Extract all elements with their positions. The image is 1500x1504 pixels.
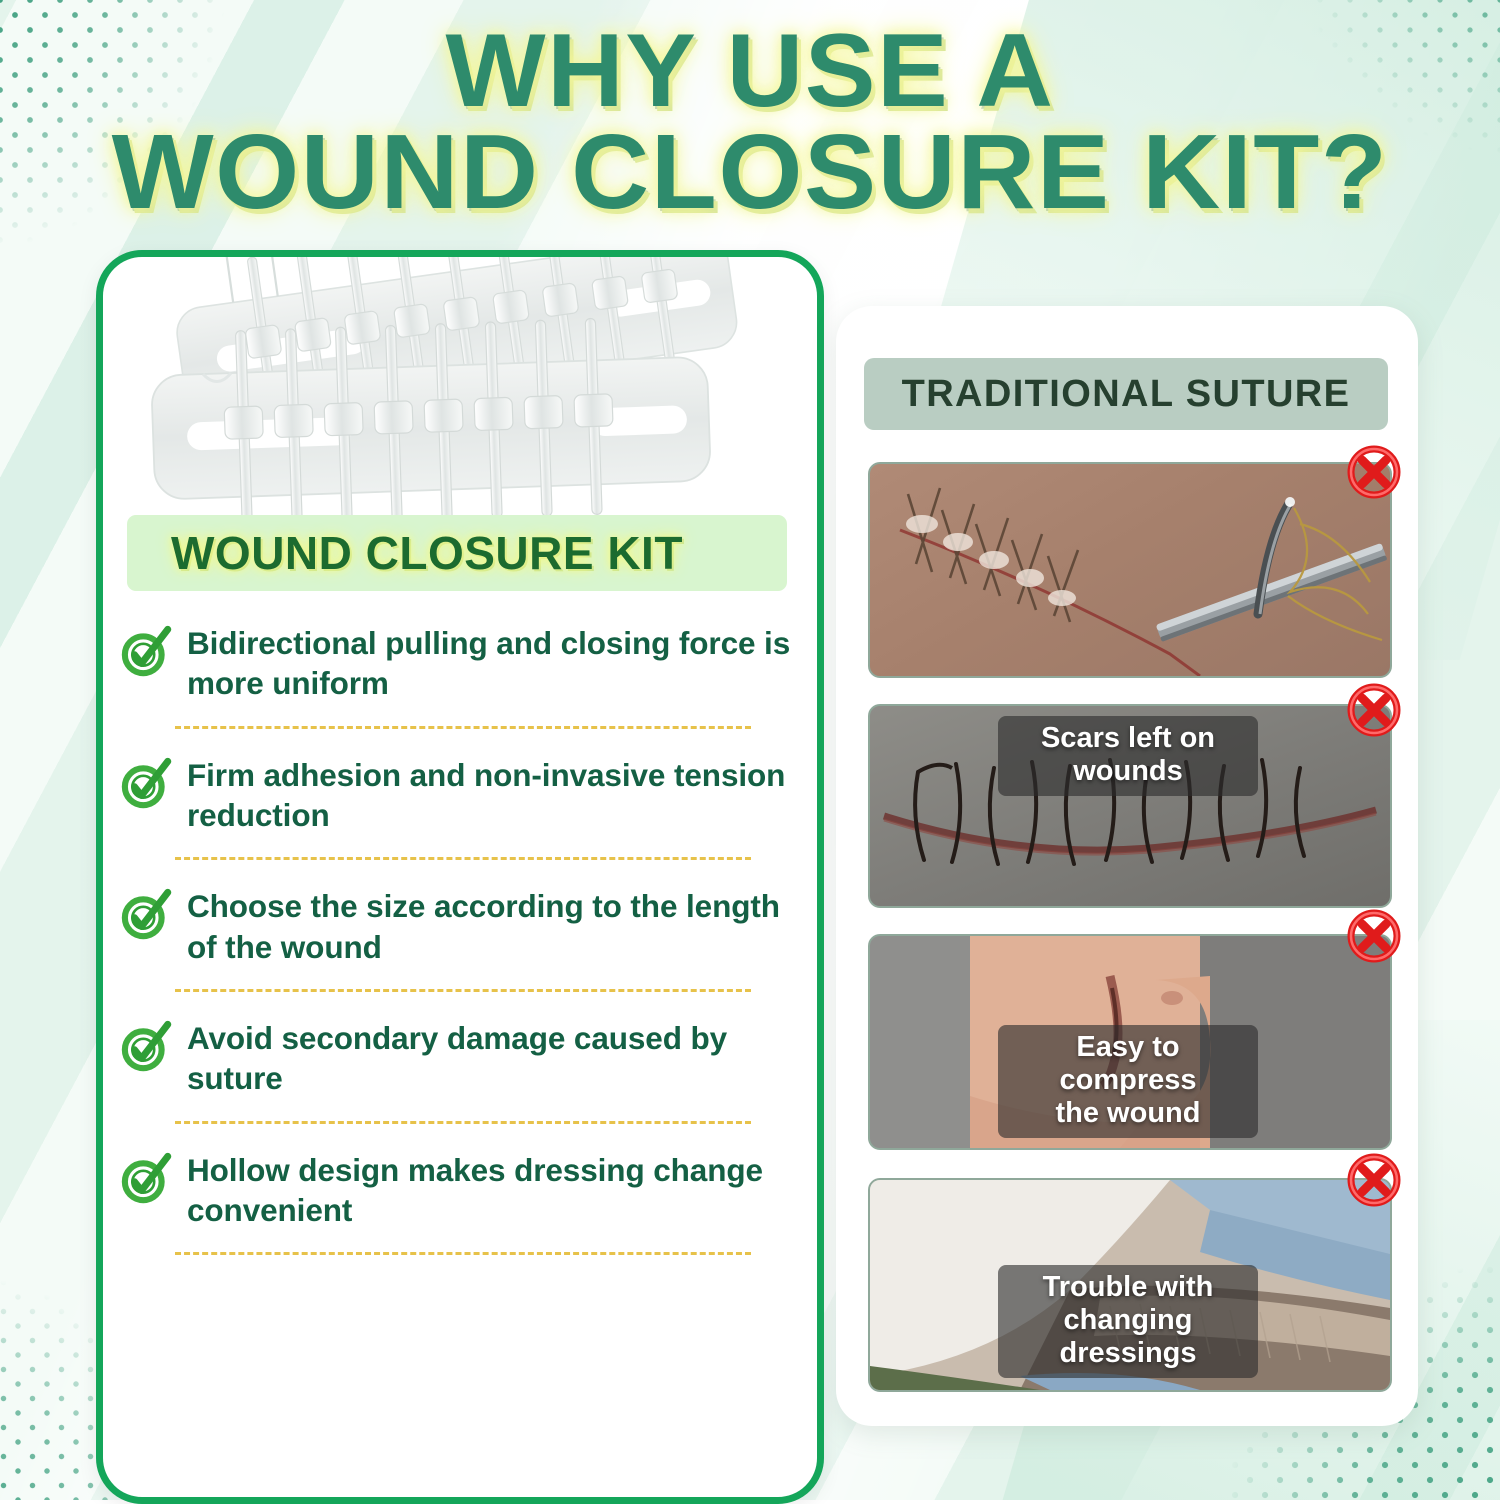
benefit-item: Choose the size according to the length …: [117, 882, 795, 967]
check-circle-icon: [117, 888, 173, 944]
benefit-item: Bidirectional pulling and closing force …: [117, 619, 795, 704]
check-circle-icon: [117, 1020, 173, 1076]
page-title: WHY USE A WOUND CLOSURE KIT?: [0, 22, 1500, 224]
drawback-caption: Easy to compress the wound: [998, 1025, 1258, 1138]
dashed-separator: [175, 989, 751, 992]
drawback-caption: Scars left on wounds: [998, 716, 1258, 796]
check-circle-icon: [117, 757, 173, 813]
dashed-separator: [175, 857, 751, 860]
traditional-suture-badge: TRADITIONAL SUTURE: [864, 358, 1388, 430]
wound-closure-kit-badge: WOUND CLOSURE KIT: [127, 515, 787, 591]
x-circle-icon: [1342, 904, 1406, 968]
benefit-label: Choose the size according to the length …: [187, 884, 795, 967]
wound-closure-kit-card: WOUND CLOSURE KIT Bidirectional pulling …: [96, 250, 824, 1504]
check-circle-icon: [117, 625, 173, 681]
x-circle-icon: [1342, 1148, 1406, 1212]
drawback-item: Trouble with changing dressings: [868, 1178, 1388, 1388]
dashed-separator: [175, 1252, 751, 1255]
drawback-item: [868, 462, 1388, 674]
x-circle-icon: [1342, 440, 1406, 504]
suture-badge-label: TRADITIONAL SUTURE: [902, 373, 1351, 416]
drawback-caption: Trouble with changing dressings: [998, 1265, 1258, 1378]
x-circle-icon: [1342, 678, 1406, 742]
title-line-1: WHY USE A: [0, 22, 1500, 122]
suture-photo-needle-holder: [868, 462, 1392, 678]
drawback-item: Easy to compress the wound: [868, 934, 1388, 1146]
traditional-suture-card: TRADITIONAL SUTURE: [836, 306, 1418, 1426]
dashed-separator: [175, 1121, 751, 1124]
check-circle-icon: [117, 1152, 173, 1208]
kit-badge-label: WOUND CLOSURE KIT: [127, 526, 683, 580]
benefit-label: Avoid secondary damage caused by suture: [187, 1016, 795, 1099]
benefit-label: Hollow design makes dressing change conv…: [187, 1148, 795, 1231]
benefit-item: Avoid secondary damage caused by suture: [117, 1014, 795, 1099]
drawback-item: Scars left on wounds: [868, 704, 1388, 904]
product-image-wound-closure-kit: [143, 250, 783, 537]
dashed-separator: [175, 726, 751, 729]
title-line-2: WOUND CLOSURE KIT?: [0, 122, 1500, 224]
benefits-list: Bidirectional pulling and closing force …: [103, 619, 817, 1277]
benefit-label: Firm adhesion and non-invasive tension r…: [187, 753, 795, 836]
benefit-item: Hollow design makes dressing change conv…: [117, 1146, 795, 1231]
benefit-item: Firm adhesion and non-invasive tension r…: [117, 751, 795, 836]
benefit-label: Bidirectional pulling and closing force …: [187, 621, 795, 704]
